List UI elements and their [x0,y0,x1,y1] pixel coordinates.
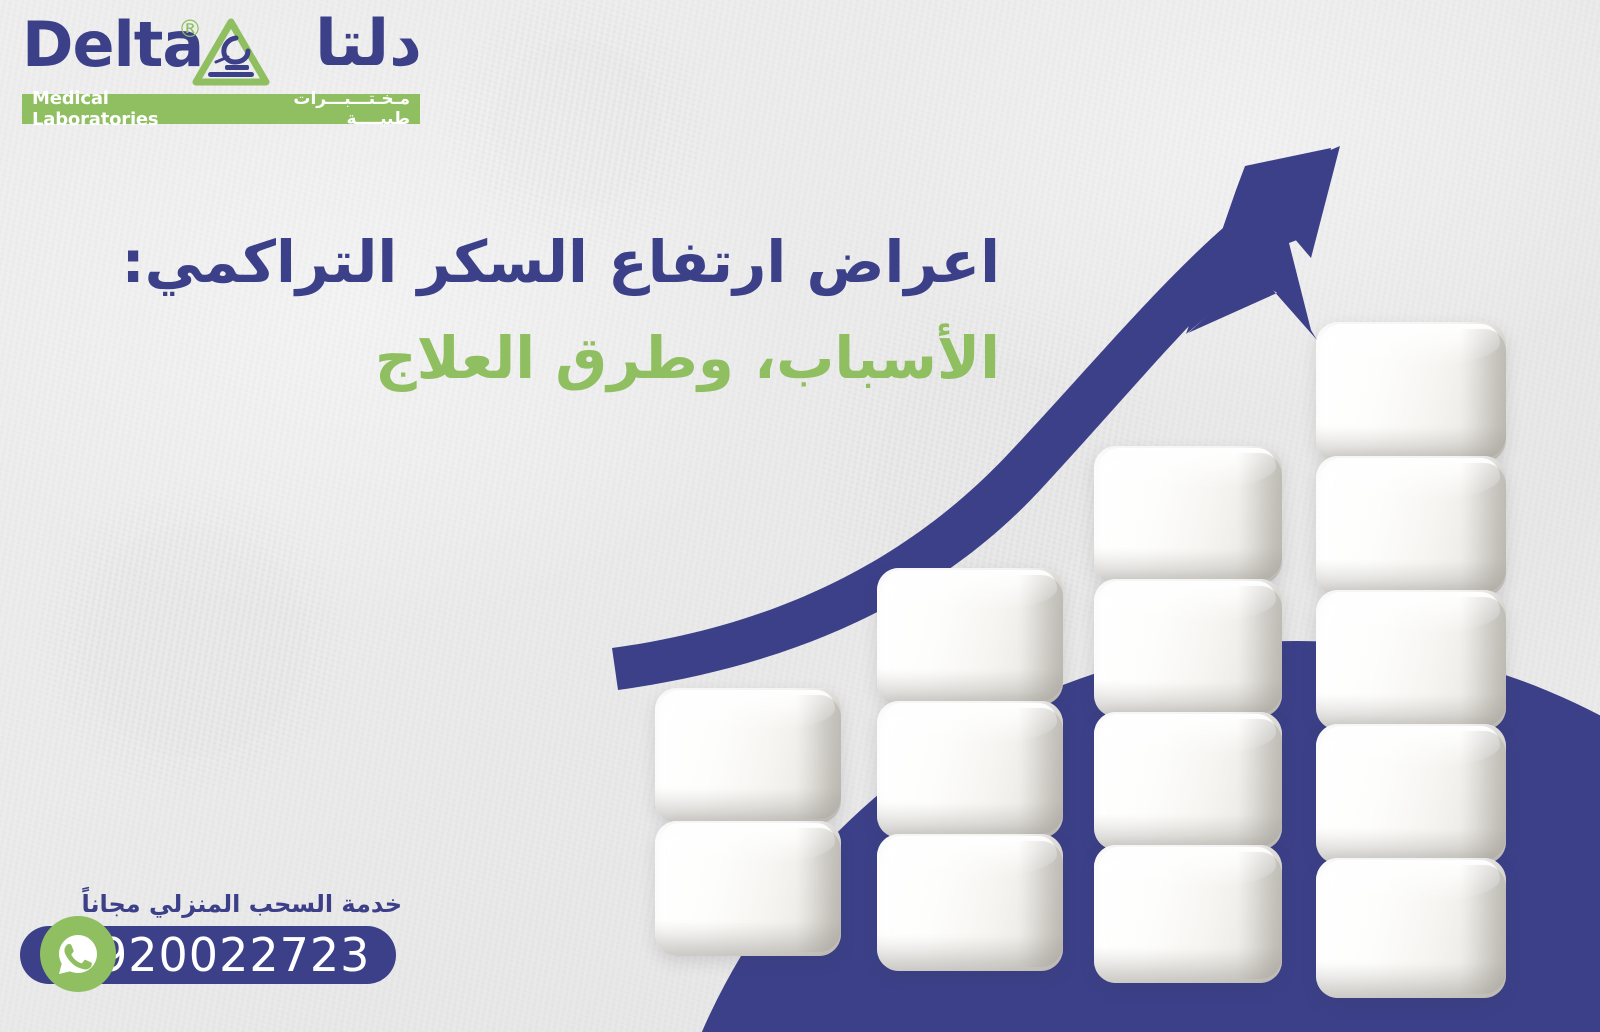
phone-number: 920022723 [98,932,370,978]
sugar-cube-icon [1094,446,1282,584]
logo-tagline-ar: مـخـتـــبـــرات طبيــــة [232,89,410,129]
sugar-cube-icon [1316,590,1506,730]
sugar-cube-icon [877,568,1063,705]
microscope-triangle-icon [192,18,270,88]
sugar-cube-icon [655,821,841,956]
logo-tagline-en: Medical Laboratories [32,88,232,130]
sugar-cube-icon [1316,322,1506,462]
sugar-cube-stack-1 [655,688,841,958]
whatsapp-button[interactable] [40,916,116,992]
whatsapp-icon [53,929,103,979]
sugar-cube-icon [877,834,1063,971]
graphic-stage [0,0,1600,1032]
logo-name-ar: دلتا [315,8,422,80]
sugar-cube-icon [1316,724,1506,864]
sugar-cube-icon [1094,579,1282,717]
sugar-cube-stack-4 [1316,322,1506,982]
sugar-cube-icon [1316,456,1506,596]
sugar-cube-icon [1316,858,1506,998]
logo-tagline-bar: Medical Laboratories مـخـتـــبـــرات طبي… [22,94,420,124]
sugar-cube-icon [1094,845,1282,983]
headline-block: اعراض ارتفاع السكر التراكمي: الأسباب، وط… [70,214,1000,406]
sugar-cube-stack-3 [1094,446,1282,974]
sugar-cube-icon [655,688,841,823]
sugar-cube-icon [877,701,1063,838]
logo-wordmark-row: Delta ® دلتا [8,10,428,88]
contact-block: خدمة السحب المنزلي مجاناً 920022723 [20,890,420,990]
sugar-cube-stack-2 [877,568,1063,968]
sugar-cube-icon [1094,712,1282,850]
headline-line-1: اعراض ارتفاع السكر التراكمي: [70,214,1000,310]
headline-line-2: الأسباب، وطرق العلاج [70,310,1000,406]
poster-canvas: Delta ® دلتا Medical Laboratories مـخـتـ… [0,0,1600,1032]
brand-logo[interactable]: Delta ® دلتا Medical Laboratories مـخـتـ… [8,10,428,120]
logo-name-en: Delta [22,14,203,76]
home-collection-note: خدمة السحب المنزلي مجاناً [81,890,402,918]
